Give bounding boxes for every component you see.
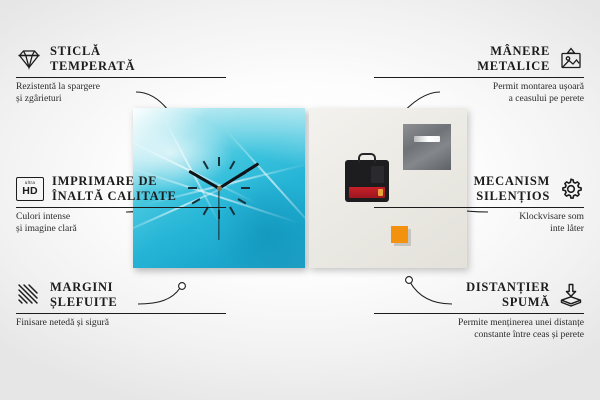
callout-rule [16, 313, 226, 314]
callout-rule [374, 313, 584, 314]
callout-polished-edges: MARGINI ȘLEFUITE Finisare netedă și sigu… [16, 280, 226, 329]
product-feature-infographic: STICLĂ TEMPERATĂ Rezistentă la spargere … [0, 0, 600, 400]
callout-foam-spacer: DISTANȚIER SPUMĂ Permite menținerea unei… [374, 280, 584, 341]
callout-description: Rezistentă la spargere și zgârieturi [16, 81, 226, 106]
callout-high-quality-print: ultra HD IMPRIMARE DE ÎNALTĂ CALITATE Cu… [16, 174, 226, 235]
callout-description: Finisare netedă și sigură [16, 317, 226, 329]
mechanism-loop [358, 153, 376, 163]
gear-icon [558, 176, 584, 202]
hd-badge-main-text: HD [22, 186, 38, 197]
hanger-slot [414, 136, 440, 142]
callout-description: Culori intense și imagine clară [16, 211, 226, 236]
callout-rule [16, 207, 226, 208]
callout-metal-handles: MÂNERE METALICE Permit montarea ușoară a… [374, 44, 584, 105]
callout-description: Permite menținerea unei distanțe constan… [374, 317, 584, 342]
callout-rule [16, 77, 226, 78]
callout-description: Permit montarea ușoară a ceasului pe per… [374, 81, 584, 106]
callout-title: IMPRIMARE DE ÎNALTĂ CALITATE [52, 174, 177, 204]
callout-title: STICLĂ TEMPERATĂ [50, 44, 135, 74]
metal-hanger-plate [403, 124, 451, 170]
callout-title: DISTANȚIER SPUMĂ [466, 280, 550, 310]
callout-description: Klockvisare som inte låter [374, 211, 584, 236]
callout-silent-mechanism: MECANISM SILENȚIOS Klockvisare som inte … [374, 174, 584, 235]
callout-title: MARGINI ȘLEFUITE [50, 280, 117, 310]
callout-title: MÂNERE METALICE [477, 44, 550, 74]
diamond-icon [16, 46, 42, 72]
callout-tempered-glass: STICLĂ TEMPERATĂ Rezistentă la spargere … [16, 44, 226, 105]
framed-picture-icon [558, 46, 584, 72]
ultra-hd-badge-icon: ultra HD [16, 177, 44, 201]
callout-title: MECANISM SILENȚIOS [474, 174, 550, 204]
diagonal-hatch-icon [16, 282, 42, 308]
callout-rule [374, 207, 584, 208]
callout-rule [374, 77, 584, 78]
press-down-pad-icon [558, 282, 584, 308]
